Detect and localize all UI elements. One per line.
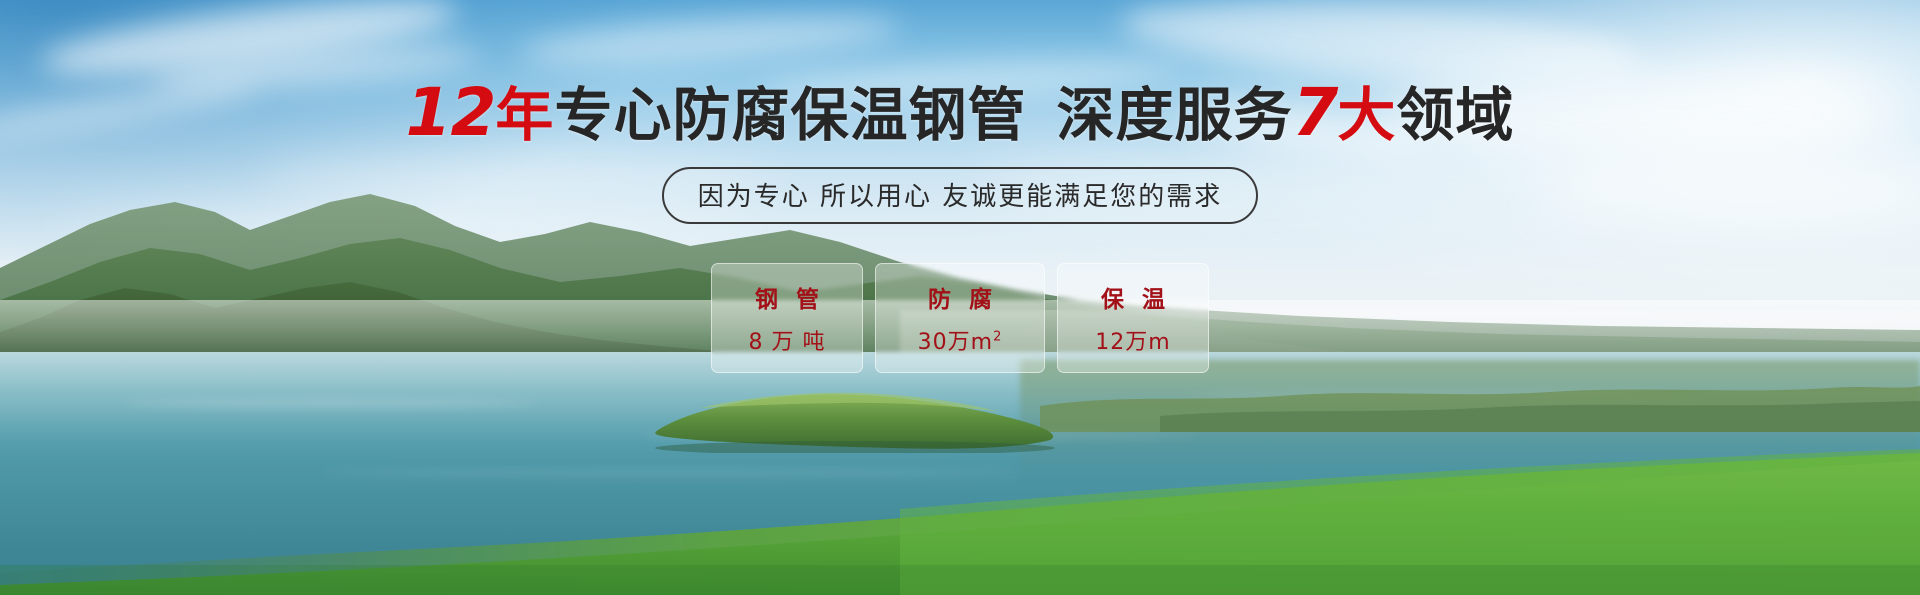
stat-card-value-text: 30万m [918, 330, 993, 355]
subtitle-pill: 因为专心 所以用心 友诚更能满足您的需求 [662, 167, 1259, 224]
stat-card-steel-pipe[interactable]: 钢 管 8 万 吨 [711, 263, 863, 373]
stat-card-title: 钢 管 [750, 280, 824, 314]
stat-card-anticorrosion[interactable]: 防 腐 30万m2 [875, 263, 1045, 373]
headline-years-number: 12 [406, 74, 496, 151]
headline-fields-unit: 大 [1337, 81, 1396, 149]
headline-segment-2: 深度服务 [1056, 81, 1292, 149]
hero-banner: 12年专心防腐保温钢管深度服务7大领域 因为专心 所以用心 友诚更能满足您的需求… [0, 0, 1920, 595]
headline-fields-number: 7 [1292, 74, 1337, 151]
stat-card-group: 钢 管 8 万 吨 防 腐 30万m2 保 温 12万m [0, 263, 1920, 373]
page-title: 12年专心防腐保温钢管深度服务7大领域 [0, 82, 1920, 146]
marsh-bank [1040, 372, 1920, 432]
headline-segment-3: 领域 [1396, 81, 1514, 149]
headline-years-unit: 年 [495, 81, 554, 149]
grass-island [640, 378, 1070, 453]
stat-card-value-superscript: 2 [993, 330, 1002, 345]
stat-card-title: 防 腐 [923, 280, 997, 314]
stat-card-value: 30万m2 [918, 324, 1003, 356]
stat-card-insulation[interactable]: 保 温 12万m [1057, 263, 1209, 373]
stat-card-title: 保 温 [1096, 280, 1170, 314]
water-reflection-streak [120, 400, 540, 407]
headline-segment-1: 专心防腐保温钢管 [554, 81, 1026, 149]
stat-card-value: 12万m [1095, 324, 1170, 356]
foreground-grass [0, 445, 1920, 595]
stat-card-value-text: 8 万 吨 [749, 330, 826, 355]
stat-card-value: 8 万 吨 [749, 324, 826, 356]
stat-card-value-text: 12万m [1095, 330, 1170, 355]
subtitle-container: 因为专心 所以用心 友诚更能满足您的需求 [0, 167, 1920, 224]
